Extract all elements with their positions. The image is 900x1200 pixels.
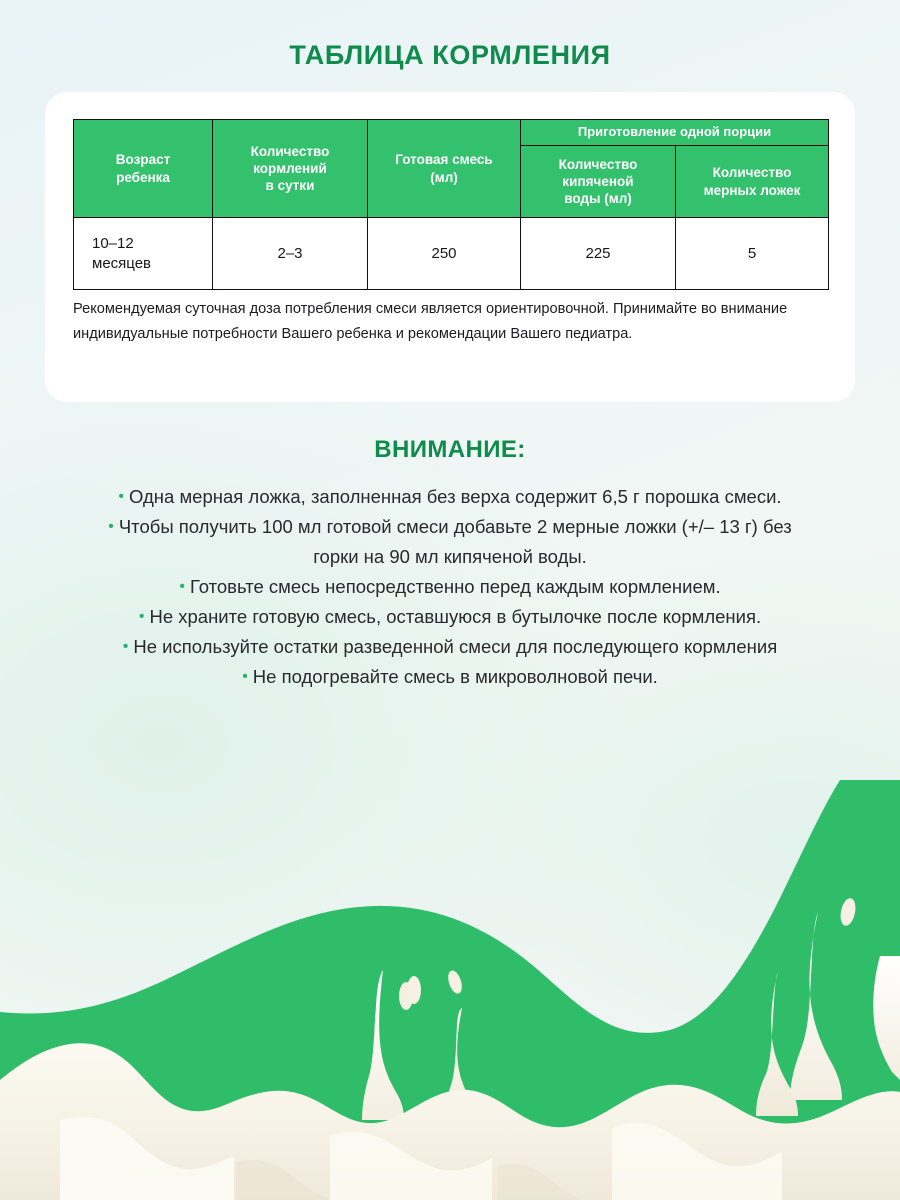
table-note: Рекомендуемая суточная доза потребления … <box>73 297 813 347</box>
table-row: 10–12 месяцев 2–3 250 225 5 <box>74 218 829 290</box>
list-item-text: Не храните готовую смесь, оставшуюся в б… <box>149 606 761 627</box>
list-item-text: Готовьте смесь непосредственно перед каж… <box>190 576 721 597</box>
column-header-age-l2: ребенка <box>116 170 170 185</box>
milk-spike-right-2 <box>756 972 798 1116</box>
milk-droplet-b <box>446 969 465 996</box>
milk-fold-highlight-1 <box>60 1117 234 1200</box>
milk-spike-far-right <box>873 956 900 1080</box>
list-item: •Не используйте остатки разведенной смес… <box>90 632 810 662</box>
milk-wave-decoration <box>0 780 900 1200</box>
list-item-text: Не используйте остатки разведенной смеси… <box>133 636 777 657</box>
milk-droplet-c <box>838 897 858 927</box>
column-header-feedings-l3: в сутки <box>266 178 315 193</box>
milk-fold-highlight-2 <box>330 1132 492 1200</box>
column-header-scoops-l2: мерных ложек <box>704 183 801 198</box>
feeding-table: Возраст ребенка Количество кормлений в с… <box>73 119 829 290</box>
column-header-water-l2: кипяченой <box>562 174 633 189</box>
cell-ready-mix: 250 <box>368 218 521 290</box>
bullet-icon: • <box>139 608 145 625</box>
milk-shadow-fold-2 <box>498 1164 582 1200</box>
column-header-ready-mix-l1: Готовая смесь <box>395 152 492 167</box>
column-header-age: Возраст ребенка <box>74 120 213 218</box>
page-root: ТАБЛИЦА КОРМЛЕНИЯ Возраст ребенка Количе… <box>0 0 900 1200</box>
table-head: Возраст ребенка Количество кормлений в с… <box>74 120 829 218</box>
bullet-icon: • <box>179 578 185 595</box>
cell-water: 225 <box>521 218 676 290</box>
column-header-feedings-l2: кормлений <box>253 161 327 176</box>
milk-droplet-small-a <box>399 982 413 1010</box>
column-header-water-l3: воды (мл) <box>564 191 632 206</box>
milk-shadow-fold-1 <box>236 1160 328 1200</box>
column-header-ready-mix: Готовая смесь (мл) <box>368 120 521 218</box>
page-title: ТАБЛИЦА КОРМЛЕНИЯ <box>0 40 900 71</box>
green-wave-shape <box>0 780 900 1200</box>
milk-spike-right <box>790 912 842 1100</box>
bullet-icon: • <box>118 488 124 505</box>
table-header-group-row: Возраст ребенка Количество кормлений в с… <box>74 120 829 146</box>
column-header-feedings-l1: Количество <box>251 144 330 159</box>
column-header-feedings: Количество кормлений в сутки <box>213 120 368 218</box>
bullet-icon: • <box>123 638 129 655</box>
column-header-scoops-l1: Количество <box>713 165 792 180</box>
list-item-text: Не подогревайте смесь в микроволновой пе… <box>253 666 658 687</box>
column-header-water-l1: Количество <box>559 157 638 172</box>
feeding-table-card: Возраст ребенка Количество кормлений в с… <box>45 92 855 402</box>
table-body: 10–12 месяцев 2–3 250 225 5 <box>74 218 829 290</box>
column-header-group-portion: Приготовление одной порции <box>521 120 829 146</box>
list-item-text: Одна мерная ложка, заполненная без верха… <box>129 486 782 507</box>
milk-pour-surface <box>0 1043 900 1200</box>
column-header-ready-mix-l2: (мл) <box>430 170 458 185</box>
milk-fold-highlight-3 <box>612 1123 782 1200</box>
list-item: •Не подогревайте смесь в микроволновой п… <box>90 662 810 692</box>
attention-title: ВНИМАНИЕ: <box>0 436 900 464</box>
list-item: •Не храните готовую смесь, оставшуюся в … <box>90 602 810 632</box>
milk-spike-center-2 <box>444 1008 478 1120</box>
list-item-text: Чтобы получить 100 мл готовой смеси доба… <box>119 516 792 567</box>
attention-list: •Одна мерная ложка, заполненная без верх… <box>90 482 810 692</box>
milk-droplet-a <box>407 976 421 1004</box>
column-header-scoops: Количество мерных ложек <box>676 146 829 218</box>
bullet-icon: • <box>242 668 248 685</box>
cell-age-l1: 10–12 <box>92 235 134 252</box>
milk-spike-center <box>362 970 404 1120</box>
cell-feedings: 2–3 <box>213 218 368 290</box>
list-item: •Одна мерная ложка, заполненная без верх… <box>90 482 810 512</box>
cell-age-l2: месяцев <box>92 255 151 272</box>
column-header-water: Количество кипяченой воды (мл) <box>521 146 676 218</box>
cell-age: 10–12 месяцев <box>74 218 213 290</box>
column-header-age-l1: Возраст <box>116 152 170 167</box>
bullet-icon: • <box>108 518 114 535</box>
cell-scoops: 5 <box>676 218 829 290</box>
list-item: •Готовьте смесь непосредственно перед ка… <box>90 572 810 602</box>
list-item: •Чтобы получить 100 мл готовой смеси доб… <box>90 512 810 572</box>
